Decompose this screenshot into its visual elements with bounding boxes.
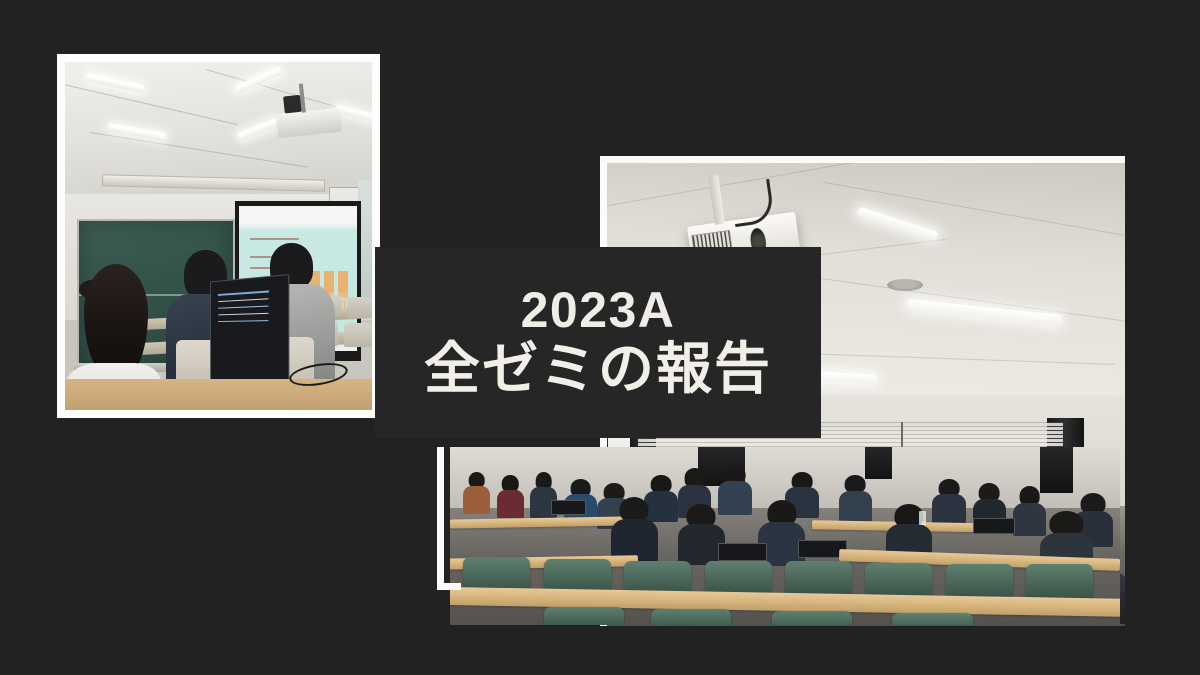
seat-back — [347, 297, 372, 318]
title-heading: 全ゼミの報告 — [424, 338, 772, 401]
student-standing — [611, 497, 658, 558]
ceiling-speaker — [887, 279, 923, 291]
student — [497, 475, 524, 514]
title-panel: 2023A 全ゼミの報告 — [375, 247, 821, 438]
student-body — [463, 486, 490, 514]
student — [839, 475, 873, 518]
student-hair — [84, 264, 149, 379]
doorway — [865, 447, 892, 479]
photo-lecture-presenter — [57, 54, 380, 418]
student — [463, 472, 490, 511]
title-term: 2023A — [521, 284, 676, 337]
laptop-screen-text — [218, 290, 269, 296]
slide-canvas: 2023A 全ゼミの報告 — [0, 0, 1200, 675]
seat — [544, 607, 624, 625]
seat — [892, 613, 972, 625]
student — [932, 479, 966, 522]
laptop — [718, 543, 767, 561]
laptop — [973, 518, 1015, 534]
laptop — [551, 500, 587, 514]
seat-back — [344, 323, 372, 347]
photo-lecture-hall-content — [450, 447, 1120, 625]
photo-lecture-presenter-content — [65, 62, 372, 410]
slide-text-line — [250, 238, 300, 240]
student-body — [497, 490, 524, 518]
projector-cable — [729, 179, 775, 227]
seat — [651, 609, 731, 625]
student-body — [932, 494, 966, 525]
laptop — [210, 274, 289, 388]
seat — [772, 611, 852, 625]
photo-lecture-hall — [450, 447, 1120, 625]
student-body — [839, 491, 873, 522]
water-bottle — [919, 511, 926, 525]
